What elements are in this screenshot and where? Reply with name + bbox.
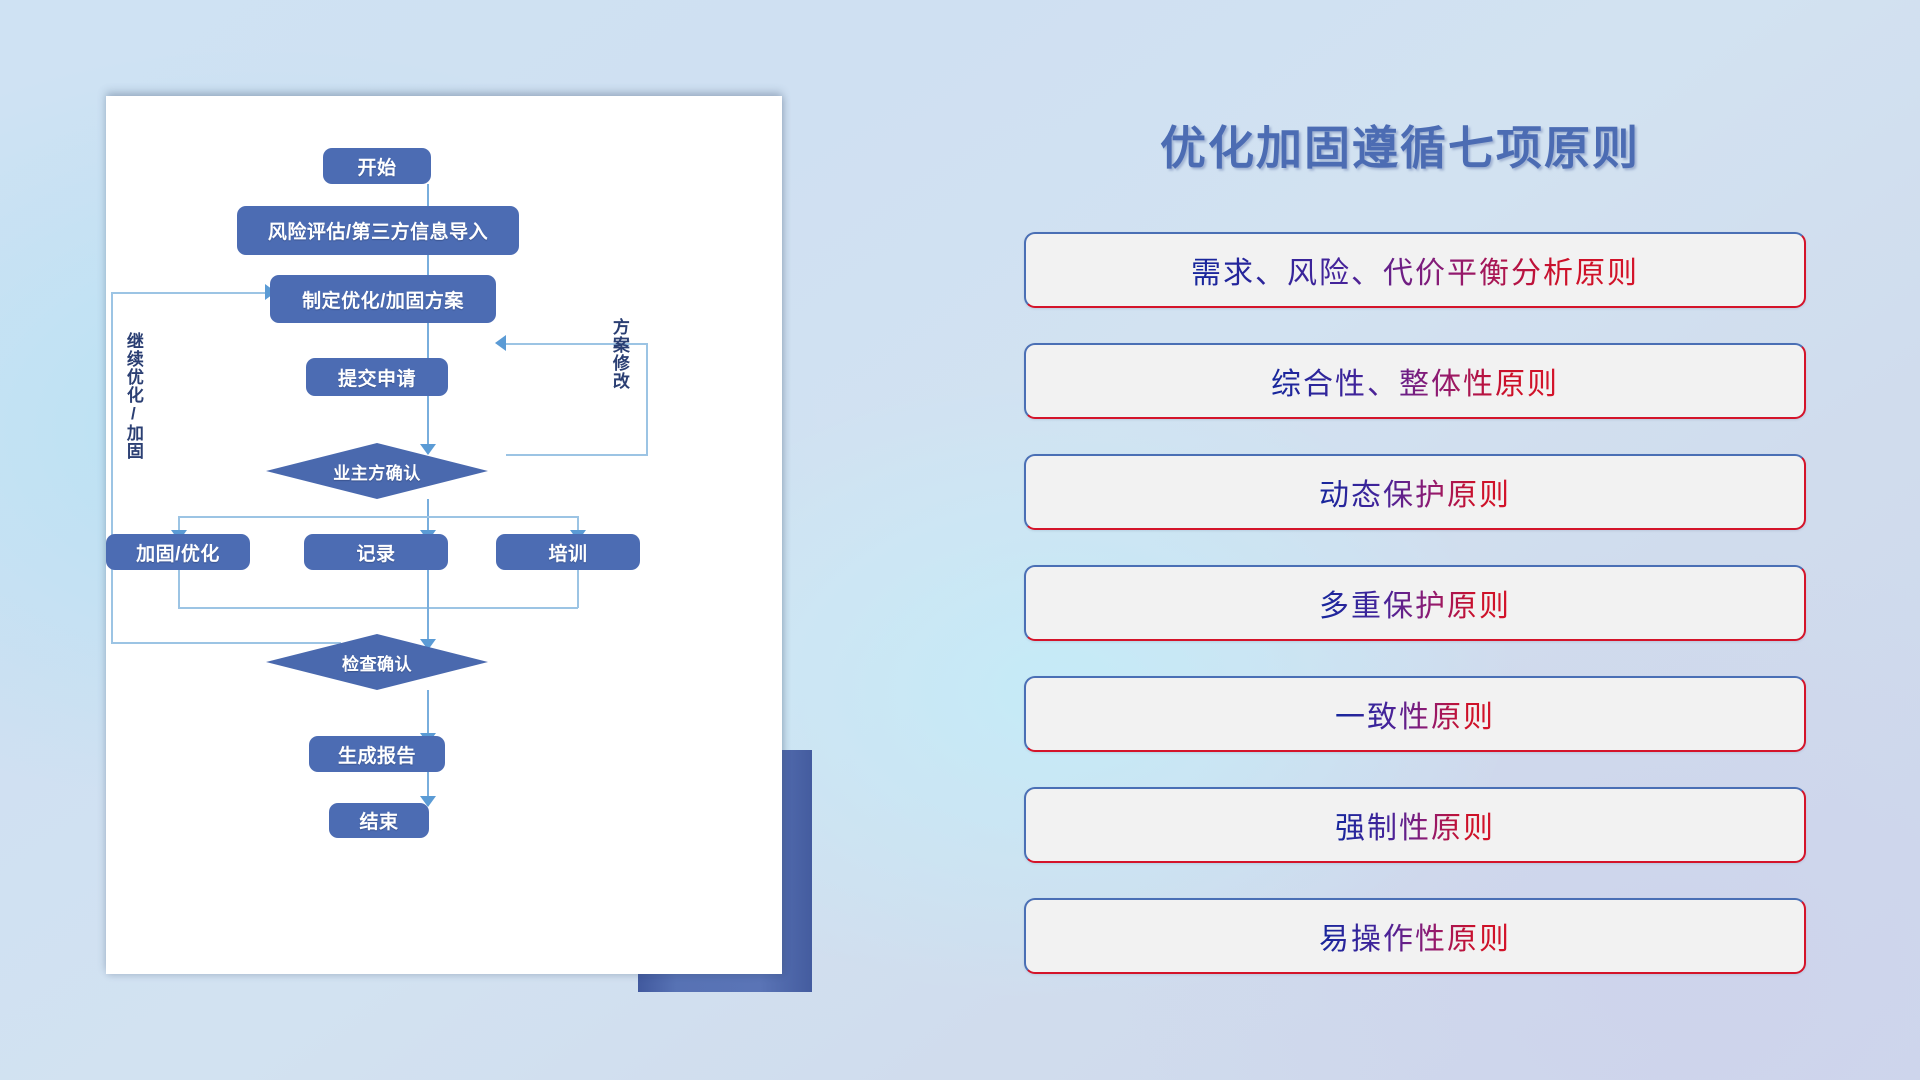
flow-node-record-label: 记录	[356, 539, 395, 566]
principle-item[interactable]: 多重保护原则	[1024, 565, 1806, 641]
principle-label: 需求、风险、代价平衡分析原则	[1191, 248, 1639, 292]
principle-item[interactable]: 一致性原则	[1024, 676, 1806, 752]
connector-loop-left-vertical	[111, 292, 113, 644]
arrowhead-revise-to-plan	[495, 335, 506, 351]
flow-node-start[interactable]: 开始	[323, 148, 431, 184]
flow-node-risk-assessment[interactable]: 风险评估/第三方信息导入	[237, 206, 519, 255]
flowchart: 开始 风险评估/第三方信息导入 制定优化/加固方案 提交申请 业主方确认 加固/…	[106, 96, 782, 974]
flow-node-record[interactable]: 记录	[304, 534, 448, 570]
principle-item[interactable]: 易操作性原则	[1024, 898, 1806, 974]
flow-node-start-label: 开始	[357, 153, 396, 180]
flow-node-plan[interactable]: 制定优化/加固方案	[270, 275, 496, 323]
principle-label: 强制性原则	[1335, 803, 1495, 847]
principle-item[interactable]: 综合性、整体性原则	[1024, 343, 1806, 419]
principle-label: 多重保护原则	[1319, 581, 1511, 625]
flow-node-submit[interactable]: 提交申请	[306, 358, 448, 396]
flow-node-reinforce-label: 加固/优化	[136, 539, 220, 566]
connector-merge-bus	[178, 607, 578, 609]
flow-node-reinforce[interactable]: 加固/优化	[106, 534, 250, 570]
flowchart-card: 开始 风险评估/第三方信息导入 制定优化/加固方案 提交申请 业主方确认 加固/…	[106, 96, 782, 974]
flow-node-owner-confirm[interactable]: 业主方确认	[266, 443, 488, 499]
principle-label: 综合性、整体性原则	[1271, 359, 1559, 403]
connector-training-down	[577, 569, 579, 608]
flow-node-risk-assessment-label: 风险评估/第三方信息导入	[268, 217, 488, 244]
principle-label: 一致性原则	[1335, 692, 1495, 736]
flow-node-end-label: 结束	[359, 807, 398, 834]
flow-node-report[interactable]: 生成报告	[309, 736, 445, 772]
flow-node-inspect-confirm-label: 检查确认	[342, 650, 412, 675]
principle-item[interactable]: 强制性原则	[1024, 787, 1806, 863]
connector-reinforce-down	[178, 569, 180, 608]
principle-label: 动态保护原则	[1319, 470, 1511, 514]
edge-label-continue-optimize: 继续优化/加固	[124, 332, 142, 460]
flow-node-report-label: 生成报告	[338, 741, 416, 768]
connector-loop-left-top	[111, 292, 273, 294]
flow-node-owner-confirm-label: 业主方确认	[333, 459, 421, 484]
principle-item[interactable]: 需求、风险、代价平衡分析原则	[1024, 232, 1806, 308]
principle-item[interactable]: 动态保护原则	[1024, 454, 1806, 530]
panel-title: 优化加固遵循七项原则	[1040, 112, 1760, 178]
flow-node-submit-label: 提交申请	[338, 364, 416, 391]
connector-revise-bottom	[506, 454, 648, 456]
flow-node-training-label: 培训	[548, 539, 587, 566]
slide-canvas: 开始 风险评估/第三方信息导入 制定优化/加固方案 提交申请 业主方确认 加固/…	[0, 0, 1920, 1080]
principle-label: 易操作性原则	[1319, 914, 1511, 958]
flow-node-end[interactable]: 结束	[329, 803, 429, 838]
flow-node-inspect-confirm[interactable]: 检查确认	[266, 634, 488, 690]
edge-label-plan-revise: 方案修改	[610, 318, 628, 390]
flow-node-plan-label: 制定优化/加固方案	[302, 286, 464, 313]
flow-node-training[interactable]: 培训	[496, 534, 640, 570]
connector-branch-bus	[178, 516, 578, 518]
principles-list: 需求、风险、代价平衡分析原则 综合性、整体性原则 动态保护原则 多重保护原则 一…	[1024, 232, 1806, 1009]
connector-revise-vertical	[646, 343, 648, 455]
